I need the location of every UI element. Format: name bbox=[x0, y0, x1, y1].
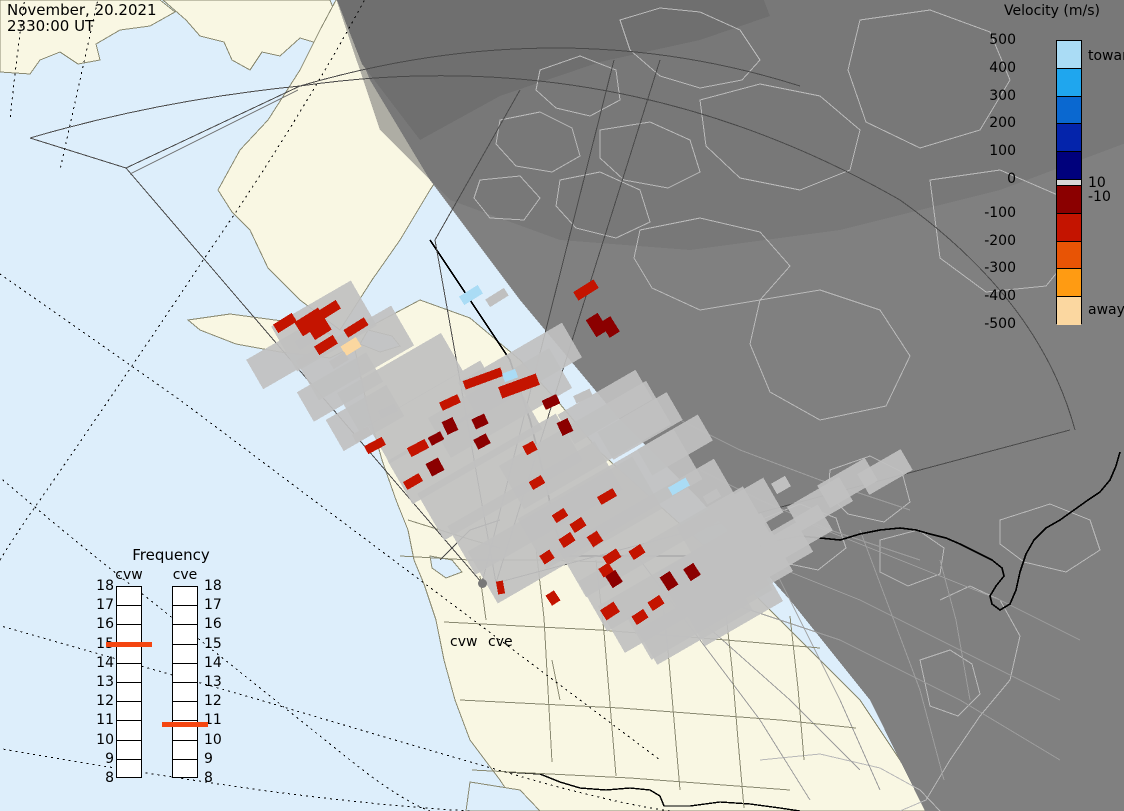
frequency-legend: Frequency cvw18171615141312111098cve1817… bbox=[96, 546, 246, 786]
velocity-legend: Velocity (m/s) 5004003002001000-100-200-… bbox=[978, 2, 1124, 332]
velocity-colorbar-segment bbox=[1057, 69, 1081, 97]
frequency-cell bbox=[173, 760, 197, 779]
frequency-tick-label: 9 bbox=[96, 751, 114, 767]
frequency-tick-label: 10 bbox=[96, 732, 114, 748]
frequency-cell bbox=[117, 664, 141, 683]
timestamp-title: November, 20.20212330:00 UT bbox=[7, 2, 157, 34]
frequency-tick-label: 17 bbox=[96, 597, 114, 613]
frequency-tick-label: 16 bbox=[204, 616, 222, 632]
velocity-colorbar-segment bbox=[1057, 97, 1081, 125]
frequency-tick-label: 12 bbox=[204, 693, 222, 709]
frequency-tick-label: 13 bbox=[96, 674, 114, 690]
velocity-colorbar bbox=[1056, 40, 1082, 324]
velocity-tick-label: -300 bbox=[956, 260, 1016, 276]
frequency-cell bbox=[173, 645, 197, 664]
frequency-marker-cve bbox=[162, 722, 208, 727]
velocity-colorbar-segment bbox=[1057, 152, 1081, 180]
frequency-radar-name-cve: cve bbox=[165, 567, 205, 583]
velocity-colorbar-segment bbox=[1057, 41, 1081, 69]
frequency-tick-label: 18 bbox=[96, 578, 114, 594]
frequency-tick-label: 10 bbox=[204, 732, 222, 748]
toward-label: toward bbox=[1088, 48, 1124, 64]
radar-map-view: November, 20.20212330:00 UT cvw cve Velo… bbox=[0, 0, 1124, 811]
frequency-cell bbox=[117, 683, 141, 702]
frequency-cell bbox=[173, 587, 197, 606]
radar-site-marker bbox=[478, 579, 487, 588]
velocity-tick-label: 200 bbox=[956, 115, 1016, 131]
frequency-bar-cvw bbox=[116, 586, 142, 778]
velocity-tick-label: -500 bbox=[956, 316, 1016, 332]
velocity-colorbar-segment bbox=[1057, 297, 1081, 325]
frequency-cell bbox=[117, 606, 141, 625]
inner-negative-label: -10 bbox=[1088, 189, 1111, 205]
frequency-cell bbox=[117, 587, 141, 606]
velocity-tick-label: -100 bbox=[956, 205, 1016, 221]
frequency-tick-label: 9 bbox=[204, 751, 213, 767]
frequency-cell bbox=[173, 664, 197, 683]
site-label-cvw: cvw bbox=[450, 634, 477, 650]
frequency-marker-cvw bbox=[106, 642, 152, 647]
velocity-tick-label: 300 bbox=[956, 88, 1016, 104]
frequency-tick-label: 14 bbox=[96, 655, 114, 671]
frequency-tick-label: 15 bbox=[204, 636, 222, 652]
frequency-bar-cve bbox=[172, 586, 198, 778]
frequency-tick-label: 14 bbox=[204, 655, 222, 671]
velocity-tick-label: -200 bbox=[956, 233, 1016, 249]
velocity-colorbar-segment bbox=[1057, 269, 1081, 297]
title-time: 2330:00 UT bbox=[7, 17, 94, 35]
frequency-tick-label: 8 bbox=[96, 770, 114, 786]
velocity-colorbar-segment bbox=[1057, 124, 1081, 152]
frequency-cell bbox=[117, 645, 141, 664]
velocity-legend-title: Velocity (m/s) bbox=[980, 3, 1124, 19]
frequency-tick-label: 11 bbox=[96, 712, 114, 728]
away-label: away bbox=[1088, 302, 1124, 318]
frequency-cell bbox=[173, 606, 197, 625]
velocity-colorbar-segment bbox=[1057, 214, 1081, 242]
frequency-cell bbox=[117, 741, 141, 760]
velocity-tick-label: -400 bbox=[956, 288, 1016, 304]
frequency-cell bbox=[117, 760, 141, 779]
velocity-tick-label: 0 bbox=[956, 171, 1016, 187]
frequency-cell bbox=[173, 702, 197, 721]
velocity-tick-label: 500 bbox=[956, 32, 1016, 48]
frequency-cell bbox=[173, 683, 197, 702]
frequency-tick-label: 17 bbox=[204, 597, 222, 613]
frequency-tick-label: 12 bbox=[96, 693, 114, 709]
frequency-tick-label: 16 bbox=[96, 616, 114, 632]
frequency-radar-name-cvw: cvw bbox=[109, 567, 149, 583]
velocity-colorbar-segment bbox=[1057, 242, 1081, 270]
velocity-tick-label: 100 bbox=[956, 143, 1016, 159]
velocity-colorbar-segment bbox=[1057, 186, 1081, 214]
frequency-tick-label: 8 bbox=[204, 770, 213, 786]
frequency-cell bbox=[173, 741, 197, 760]
site-label-cve: cve bbox=[488, 634, 513, 650]
frequency-tick-label: 18 bbox=[204, 578, 222, 594]
velocity-tick-label: 400 bbox=[956, 60, 1016, 76]
frequency-cell bbox=[117, 702, 141, 721]
frequency-legend-title: Frequency bbox=[96, 546, 246, 564]
frequency-cell bbox=[117, 721, 141, 740]
frequency-cell bbox=[173, 625, 197, 644]
frequency-tick-label: 13 bbox=[204, 674, 222, 690]
